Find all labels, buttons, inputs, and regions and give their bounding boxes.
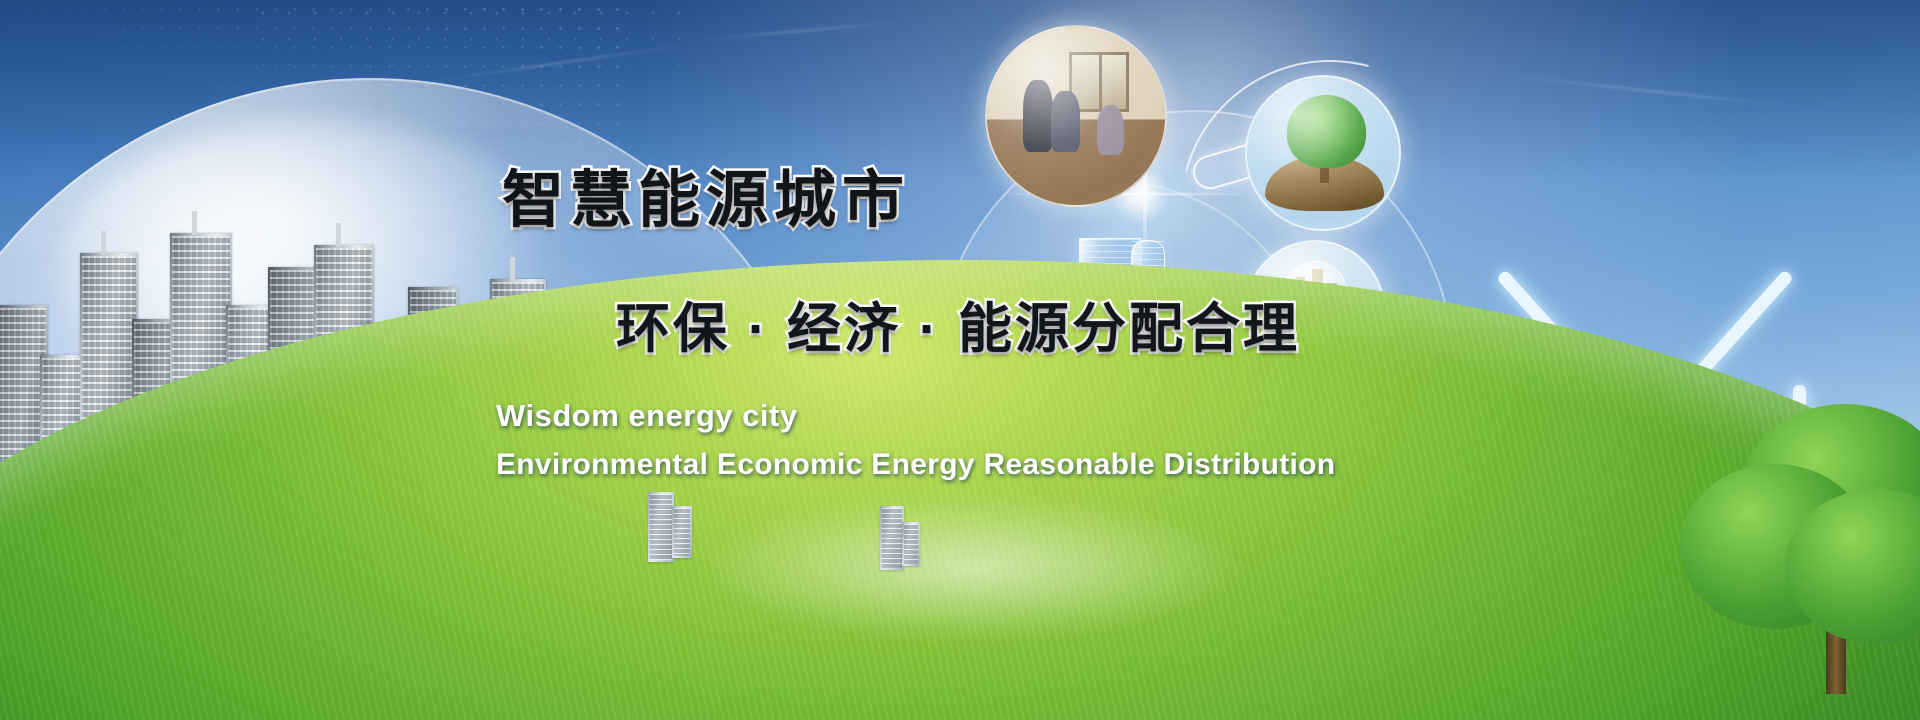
- banner-copy: 智慧能源城市 环保 · 经济 · 能源分配合理 Wisdom energy ci…: [496, 170, 1556, 482]
- banner-subtitle: 环保 · 经济 · 能源分配合理: [616, 302, 1556, 356]
- far-building: [672, 506, 692, 558]
- far-building: [902, 522, 920, 566]
- far-building: [880, 506, 904, 570]
- foreground-tree: [1670, 394, 1920, 694]
- banner-tagline-secondary: Environmental Economic Energy Reasonable…: [496, 448, 1556, 482]
- far-building: [648, 492, 674, 562]
- banner-tagline-primary: Wisdom energy city: [496, 398, 1556, 434]
- grass-hill-highlight: [691, 492, 1251, 642]
- banner-title: 智慧能源城市: [502, 170, 1556, 232]
- banner-root: 智慧能源城市 环保 · 经济 · 能源分配合理 Wisdom energy ci…: [0, 0, 1920, 720]
